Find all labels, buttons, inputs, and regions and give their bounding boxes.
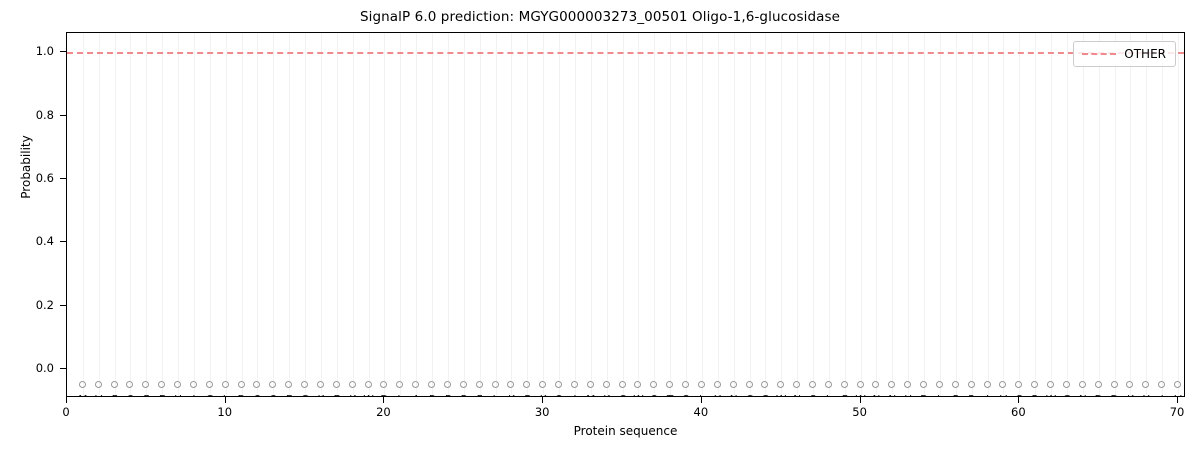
gridline (591, 33, 592, 396)
gridline (242, 33, 243, 396)
gridline (178, 33, 179, 396)
x-tick-label: 30 (522, 405, 562, 419)
gridline (210, 33, 211, 396)
residue-letter: F (138, 394, 154, 397)
gridline (654, 33, 655, 396)
y-tick-label: 0.0 (10, 362, 54, 374)
residue-letter: D (376, 394, 392, 397)
residue-marker (301, 381, 308, 388)
residue-letter: Y (710, 394, 726, 397)
residue-marker (999, 381, 1006, 388)
gridline (1067, 33, 1068, 396)
plot-area: MVFQFEHIGLDQQEGKEKWDLAPFPFLKFKQIMKCWQTSL… (66, 32, 1185, 397)
residue-marker (825, 381, 832, 388)
residue-marker (904, 381, 911, 388)
gridline (559, 33, 560, 396)
legend-swatch-other (1082, 53, 1116, 55)
residue-marker (809, 381, 816, 388)
y-tick-label: 0.6 (10, 172, 54, 184)
gridline (527, 33, 528, 396)
residue-letter: C (615, 394, 631, 397)
residue-marker (523, 381, 530, 388)
residue-marker (1063, 381, 1070, 388)
residue-letter: N (868, 394, 884, 397)
residue-marker (444, 381, 451, 388)
gridline (1115, 33, 1116, 396)
x-tick-label: 20 (363, 405, 403, 419)
gridline (1051, 33, 1052, 396)
gridline (194, 33, 195, 396)
x-tick-label: 0 (46, 405, 86, 419)
residue-letter: G (202, 394, 218, 397)
residue-letter: L (694, 394, 710, 397)
residue-letter: D (916, 394, 932, 397)
residue-letter: M (75, 394, 91, 397)
residue-letter: L (821, 394, 837, 397)
residue-letter: Y (1138, 394, 1154, 397)
residue-marker (269, 381, 276, 388)
residue-letter: Q (646, 394, 662, 397)
x-tick-mark (701, 397, 702, 403)
residue-letter: W (1043, 394, 1059, 397)
gridline (273, 33, 274, 396)
gridline (511, 33, 512, 396)
gridline (416, 33, 417, 396)
gridline (115, 33, 116, 396)
gridline (226, 33, 227, 396)
residue-letter: G (757, 394, 773, 397)
residue-marker (285, 381, 292, 388)
residue-marker (888, 381, 895, 388)
residue-marker (158, 381, 165, 388)
residue-letter: I (567, 394, 583, 397)
gridline (1130, 33, 1131, 396)
residue-marker (984, 381, 991, 388)
residue-marker (95, 381, 102, 388)
residue-marker (428, 381, 435, 388)
gridline (781, 33, 782, 396)
residue-letter: K (599, 394, 615, 397)
gridline (432, 33, 433, 396)
residue-marker (1126, 381, 1133, 388)
x-tick-mark (66, 397, 67, 403)
residue-marker (1142, 381, 1149, 388)
residue-letter: Q (249, 394, 265, 397)
residue-marker (380, 381, 387, 388)
residue-letter: L (932, 394, 948, 397)
residue-letter: G (1059, 394, 1075, 397)
gridline (1162, 33, 1163, 396)
gridline (1146, 33, 1147, 396)
x-tick-label: 50 (840, 405, 880, 419)
x-tick-label: 60 (998, 405, 1038, 419)
residue-letter: F (472, 394, 488, 397)
residue-letter: F (107, 394, 123, 397)
x-tick-mark (860, 397, 861, 403)
residue-marker (619, 381, 626, 388)
residue-marker (1047, 381, 1054, 388)
y-tick-label: 0.8 (10, 109, 54, 121)
residue-marker (666, 381, 673, 388)
residue-letter: C (742, 394, 758, 397)
residue-letter: M (583, 394, 599, 397)
gridline (448, 33, 449, 396)
residue-marker (714, 381, 721, 388)
residue-letter: T (662, 394, 678, 397)
residue-marker (365, 381, 372, 388)
y-tick-label: 1.0 (10, 45, 54, 57)
residue-letter: I (186, 394, 202, 397)
other-probability-line (67, 52, 1184, 54)
gridline (718, 33, 719, 396)
y-tick-label: 0.4 (10, 235, 54, 247)
residue-marker (1111, 381, 1118, 388)
residue-letter: F (837, 394, 853, 397)
residue-letter: N (884, 394, 900, 397)
gridline (1035, 33, 1036, 396)
gridline (623, 33, 624, 396)
residue-marker (222, 381, 229, 388)
residue-marker (539, 381, 546, 388)
gridline (686, 33, 687, 396)
residue-letter: L (392, 394, 408, 397)
gridline (130, 33, 131, 396)
residue-marker (698, 381, 705, 388)
residue-letter: F (440, 394, 456, 397)
residue-letter: W (630, 394, 646, 397)
residue-marker (968, 381, 975, 388)
residue-letter: H (900, 394, 916, 397)
residue-letter: S (805, 394, 821, 397)
residue-letter: K (535, 394, 551, 397)
x-tick-label: 10 (205, 405, 245, 419)
gridline (369, 33, 370, 396)
residue-letter: E (154, 394, 170, 397)
gridline (734, 33, 735, 396)
residue-letter: S (1011, 394, 1027, 397)
residue-marker (476, 381, 483, 388)
residue-letter: I (980, 394, 996, 397)
gridline (257, 33, 258, 396)
residue-marker (952, 381, 959, 388)
residue-marker (650, 381, 657, 388)
gridline (845, 33, 846, 396)
gridline (1003, 33, 1004, 396)
residue-marker (1174, 381, 1181, 388)
gridline (543, 33, 544, 396)
residue-letter: K (1122, 394, 1138, 397)
residue-marker (460, 381, 467, 388)
residue-letter: K (313, 394, 329, 397)
residue-letter: N (726, 394, 742, 397)
residue-letter: E (281, 394, 297, 397)
gridline (765, 33, 766, 396)
residue-letter: P (948, 394, 964, 397)
gridline (496, 33, 497, 396)
residue-marker (1015, 381, 1022, 388)
residue-marker (126, 381, 133, 388)
gridline (289, 33, 290, 396)
residue-letter: P (456, 394, 472, 397)
gridline (956, 33, 957, 396)
residue-marker (1031, 381, 1038, 388)
x-tick-label: 70 (1157, 405, 1197, 419)
gridline (480, 33, 481, 396)
gridline (1019, 33, 1020, 396)
residue-marker (333, 381, 340, 388)
x-tick-mark (383, 397, 384, 403)
residue-letter: D (1091, 394, 1107, 397)
residue-marker (190, 381, 197, 388)
signalp-prediction-figure: SignalP 6.0 prediction: MGYG000003273_00… (0, 0, 1200, 450)
residue-marker (142, 381, 149, 388)
residue-marker (412, 381, 419, 388)
residue-marker (507, 381, 514, 388)
x-tick-label: 40 (681, 405, 721, 419)
residue-letter: R (1027, 394, 1043, 397)
residue-letter: H (170, 394, 186, 397)
residue-marker (603, 381, 610, 388)
residue-letter: K (345, 394, 361, 397)
residue-marker (349, 381, 356, 388)
residue-marker (396, 381, 403, 388)
gridline (797, 33, 798, 396)
residue-marker (174, 381, 181, 388)
residue-letter: N (1075, 394, 1091, 397)
gridline (99, 33, 100, 396)
residue-marker (206, 381, 213, 388)
x-tick-mark (225, 397, 226, 403)
legend[interactable]: OTHER (1073, 41, 1176, 67)
gridline (670, 33, 671, 396)
residue-letter: W (853, 394, 869, 397)
x-tick-mark (1018, 397, 1019, 403)
gridline (305, 33, 306, 396)
gridline (876, 33, 877, 396)
residue-letter: Q (122, 394, 138, 397)
gridline (607, 33, 608, 396)
residue-letter: V (995, 394, 1011, 397)
residue-letter: I (1154, 394, 1170, 397)
gridline (972, 33, 973, 396)
residue-marker (1158, 381, 1165, 388)
residue-marker (793, 381, 800, 388)
residue-letter: Q (265, 394, 281, 397)
residue-letter: S (678, 394, 694, 397)
residue-marker (238, 381, 245, 388)
residue-marker (872, 381, 879, 388)
gridline (146, 33, 147, 396)
residue-marker (841, 381, 848, 388)
gridline (638, 33, 639, 396)
residue-letter: G (297, 394, 313, 397)
x-tick-mark (542, 397, 543, 403)
residue-letter: D (234, 394, 250, 397)
residue-marker (492, 381, 499, 388)
residue-marker (555, 381, 562, 388)
gridline (924, 33, 925, 396)
residue-letter: F (519, 394, 535, 397)
gridline (908, 33, 909, 396)
residue-marker (634, 381, 641, 388)
gridline (464, 33, 465, 396)
gridline (1099, 33, 1100, 396)
residue-letter: D (1107, 394, 1123, 397)
residue-marker (587, 381, 594, 388)
gridline (83, 33, 84, 396)
residue-marker (920, 381, 927, 388)
residue-letter: W (361, 394, 377, 397)
residue-letter: N (789, 394, 805, 397)
residue-letter: L (488, 394, 504, 397)
gridline (892, 33, 893, 396)
residue-marker (936, 381, 943, 388)
gridline (353, 33, 354, 396)
residue-marker (571, 381, 578, 388)
gridline (384, 33, 385, 396)
residue-marker (111, 381, 118, 388)
residue-marker (777, 381, 784, 388)
residue-marker (79, 381, 86, 388)
residue-marker (682, 381, 689, 388)
gridline (702, 33, 703, 396)
x-axis-label: Protein sequence (66, 424, 1185, 438)
gridline (940, 33, 941, 396)
residue-marker (1079, 381, 1086, 388)
gridline (337, 33, 338, 396)
residue-letter: Q (551, 394, 567, 397)
gridline (1178, 33, 1179, 396)
residue-letter: E (329, 394, 345, 397)
gridline (750, 33, 751, 396)
residue-marker (253, 381, 260, 388)
legend-label-other: OTHER (1124, 47, 1166, 61)
gridline (829, 33, 830, 396)
residue-marker (761, 381, 768, 388)
residue-marker (730, 381, 737, 388)
residue-letter: P (424, 394, 440, 397)
gridline (988, 33, 989, 396)
gridline (400, 33, 401, 396)
residue-letter: W (773, 394, 789, 397)
residue-marker (1095, 381, 1102, 388)
gridline (861, 33, 862, 396)
residue-letter: R (964, 394, 980, 397)
chart-title: SignalP 6.0 prediction: MGYG000003273_00… (0, 9, 1200, 25)
gridline (162, 33, 163, 396)
residue-letter: V (91, 394, 107, 397)
y-tick-label: 0.2 (10, 299, 54, 311)
residue-letter: A (408, 394, 424, 397)
gridline (1083, 33, 1084, 396)
gridline (813, 33, 814, 396)
residue-marker (746, 381, 753, 388)
residue-marker (857, 381, 864, 388)
gridline (575, 33, 576, 396)
residue-letter: L (218, 394, 234, 397)
gridline (321, 33, 322, 396)
residue-marker (317, 381, 324, 388)
x-tick-mark (1177, 397, 1178, 403)
residue-letter: K (503, 394, 519, 397)
